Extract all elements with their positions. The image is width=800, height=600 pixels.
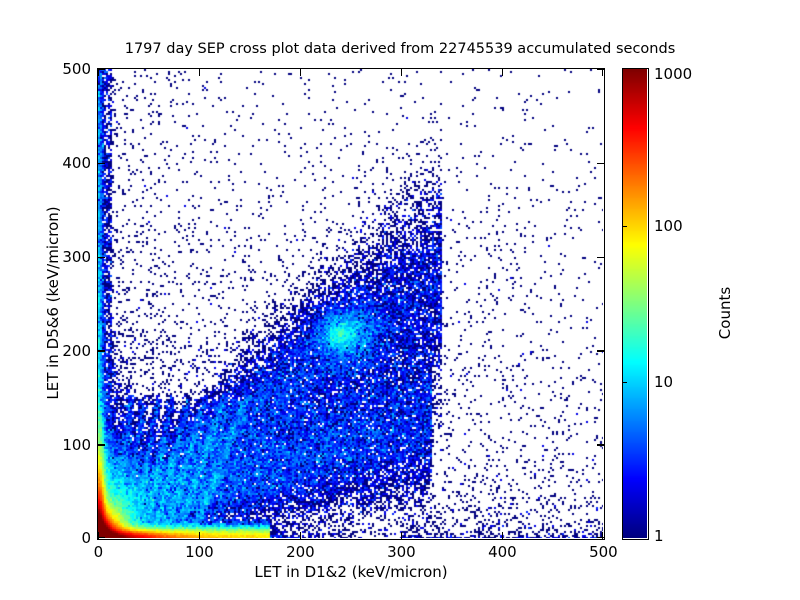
y-tick-200 [98,350,105,351]
y-tick-right-200 [597,350,604,351]
x-tick-label-0: 0 [94,543,104,561]
y-tick-label-200: 200 [62,342,91,360]
figure-canvas: 1797 day SEP cross plot data derived fro… [0,0,800,600]
y-tick-300 [98,257,105,258]
chart-title-line-1: 1797 day SEP cross plot data derived fro… [0,41,800,59]
colorbar-tick-label-1000: 1000 [654,65,692,83]
x-tick-100 [199,532,200,539]
y-tick-right-400 [597,163,604,164]
x-tick-400 [502,532,503,539]
colorbar-tick-label-10: 10 [654,373,673,391]
colorbar-tick-label-100: 100 [654,217,683,235]
x-tick-200 [300,532,301,539]
colorbar [622,68,649,540]
x-tick-label-300: 300 [387,543,416,561]
x-tick-label-200: 200 [286,543,315,561]
y-tick-right-300 [597,257,604,258]
y-tick-label-500: 500 [62,60,91,78]
x-tick-label-400: 400 [488,543,517,561]
y-tick-label-300: 300 [62,248,91,266]
y-tick-right-500 [597,69,604,70]
x-tick-top-400 [502,69,503,76]
y-tick-right-100 [597,444,604,445]
y-tick-0 [98,537,105,538]
x-tick-top-300 [401,69,402,76]
y-axis-label: LET in D5&6 (keV/micron) [44,67,62,539]
y-tick-label-100: 100 [62,436,91,454]
y-tick-400 [98,163,105,164]
y-tick-right-0 [597,537,604,538]
y-tick-100 [98,444,105,445]
colorbar-label: Counts [716,213,734,413]
colorbar-tick-10 [622,382,627,383]
x-tick-top-200 [300,69,301,76]
colorbar-tick-label-1: 1 [654,527,664,545]
heatmap-scatter-canvas [98,69,603,538]
x-tick-label-100: 100 [185,543,214,561]
plot-area [97,68,605,540]
x-tick-label-500: 500 [589,543,618,561]
colorbar-tick-100 [622,226,627,227]
y-tick-500 [98,69,105,70]
colorbar-gradient [623,69,647,538]
x-tick-300 [401,532,402,539]
x-tick-top-100 [199,69,200,76]
x-axis-label: LET in D1&2 (keV/micron) [97,563,605,581]
y-tick-label-0: 0 [81,529,91,547]
y-tick-label-400: 400 [62,154,91,172]
